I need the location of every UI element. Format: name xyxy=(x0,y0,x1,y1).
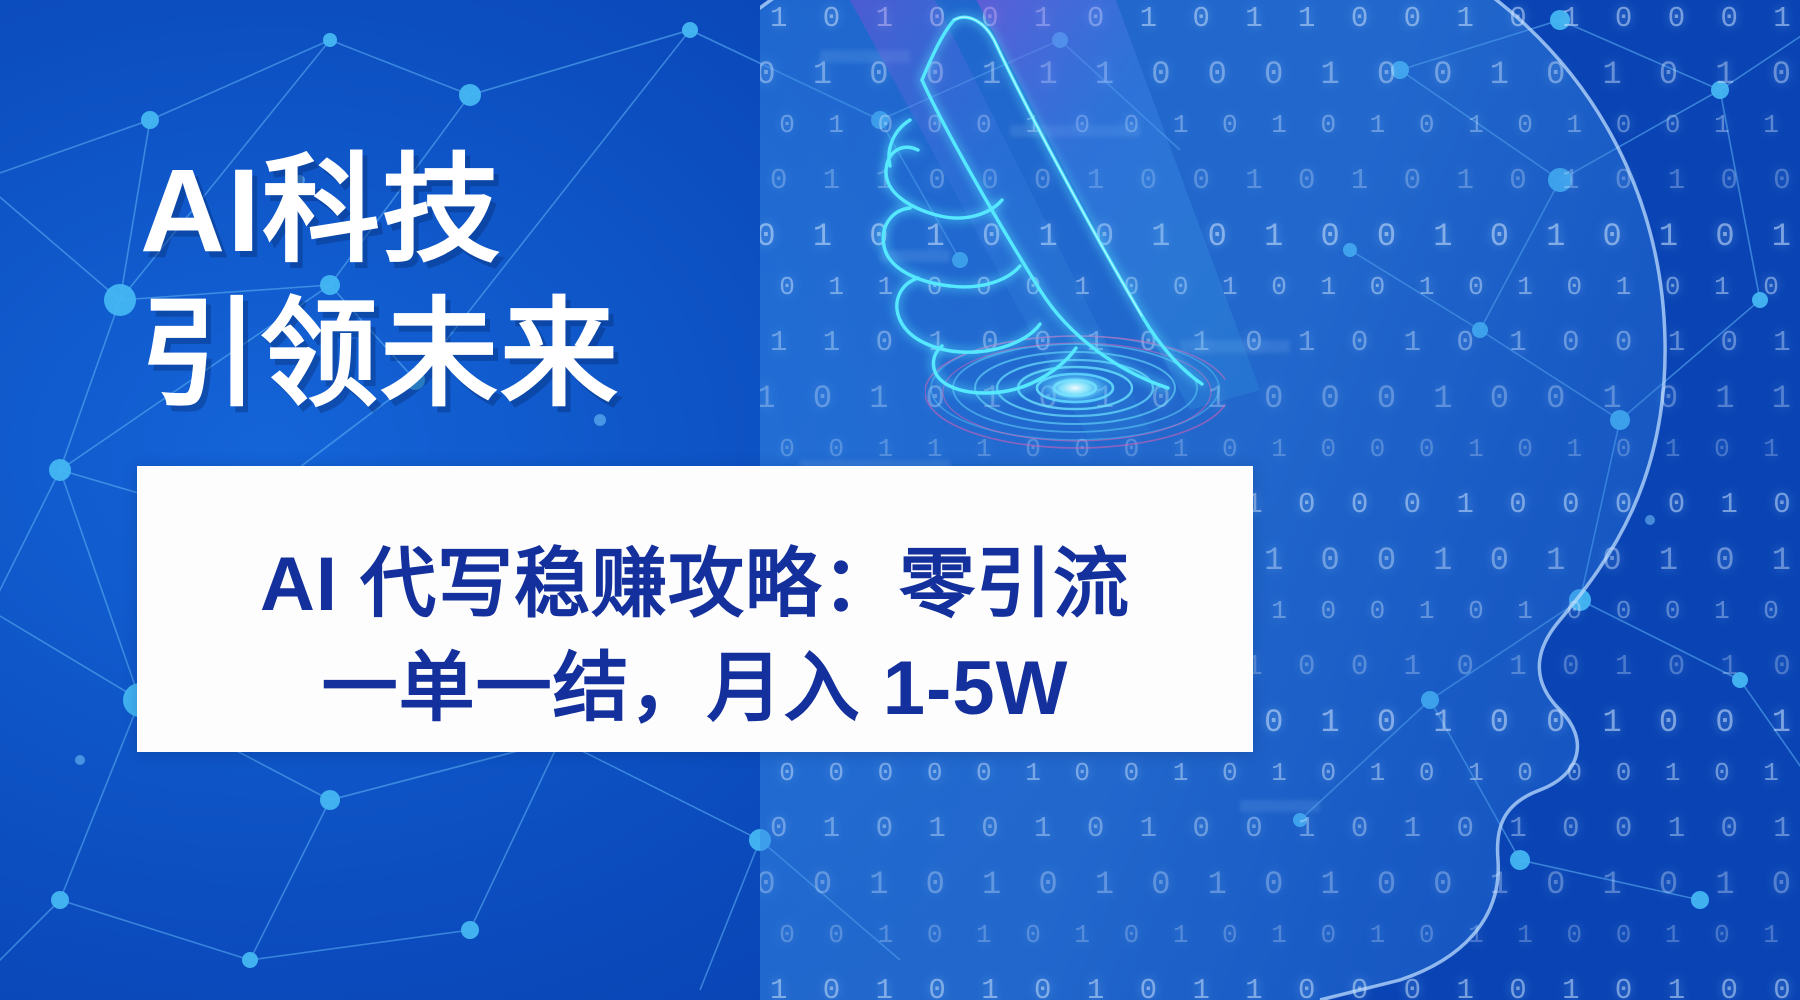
title-line-2: 引领未来 xyxy=(140,284,900,428)
binary-row: 1 0 1 0 1 0 1 0 1 1 0 0 0 1 0 1 0 1 0 0 … xyxy=(770,974,1800,1000)
headline-card: AI 代写稳赚攻略：零引流 一单一结，月入 1-5W xyxy=(137,466,1253,752)
binary-row: 1 0 0 1 0 1 0 1 0 1 0 1 0 0 1 0 1 0 1 0 … xyxy=(760,866,1800,903)
title-line-1: AI科技 xyxy=(140,140,900,284)
binary-row: 0 0 0 1 0 1 0 1 0 1 0 1 0 1 0 1 1 0 0 1 … xyxy=(760,920,1800,950)
page-title: AI科技 引领未来 xyxy=(140,140,900,428)
banner-canvas: 1 1 0 0 1 0 0 1 1 0 0 1 0 1 0 1 0 0 1 0 … xyxy=(0,0,1800,1000)
binary-row: 1 0 0 0 0 0 1 0 0 1 0 1 0 1 0 1 0 0 0 1 … xyxy=(760,758,1800,788)
card-line-1: AI 代写稳赚攻略：零引流 xyxy=(137,522,1253,632)
card-line-2: 一单一结，月入 1-5W xyxy=(137,626,1253,736)
binary-row: 0 1 0 1 0 1 0 1 0 0 1 0 1 0 1 0 0 1 0 1 … xyxy=(770,812,1800,845)
